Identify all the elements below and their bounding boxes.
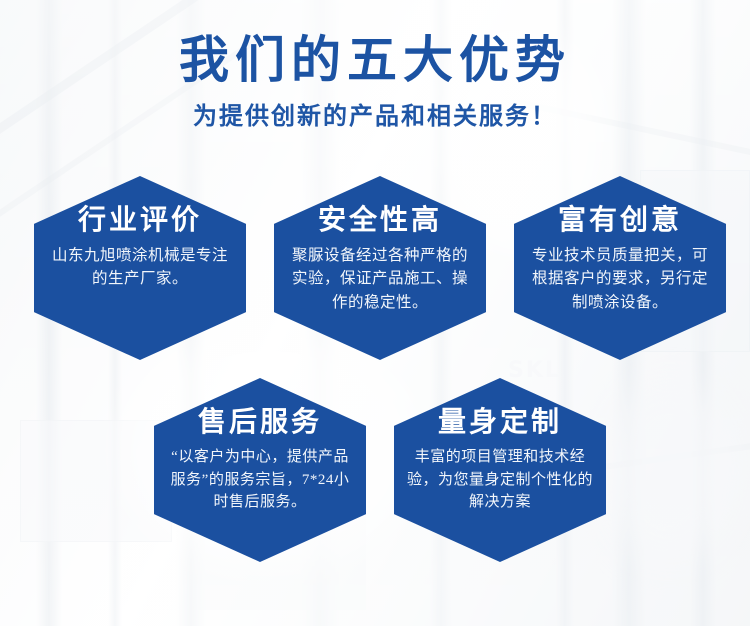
advantage-body: “以客户为中心，提供产品服务”的服务宗旨，7*24小时售后服务。 <box>167 446 353 514</box>
advantage-title: 量身定制 <box>407 408 593 439</box>
header: 我们的五大优势 为提供创新的产品和相关服务！ <box>0 34 750 131</box>
advantage-title: 安全性高 <box>287 206 473 237</box>
advantage-body: 山东九旭喷涂机械是专注的生产厂家。 <box>47 244 233 291</box>
advantage-body: 专业技术员质量把关，可根据客户的要求，另行定制喷涂设备。 <box>527 244 713 315</box>
advantage-title: 售后服务 <box>167 408 353 439</box>
page-title: 我们的五大优势 <box>0 34 750 87</box>
page-subtitle: 为提供创新的产品和相关服务！ <box>0 96 750 131</box>
advantage-title: 富有创意 <box>527 206 713 237</box>
promo-banner: SKL 我们的五大优势 为提供创新的产品和相关服务！ 行业评价 山东九旭喷涂机械… <box>0 0 750 626</box>
advantage-body: 聚脲设备经过各种严格的实验，保证产品施工、操作的稳定性。 <box>287 244 473 315</box>
advantage-body: 丰富的项目管理和技术经验，为您量身定制个性化的解决方案 <box>407 446 593 514</box>
advantage-title: 行业评价 <box>47 206 233 237</box>
